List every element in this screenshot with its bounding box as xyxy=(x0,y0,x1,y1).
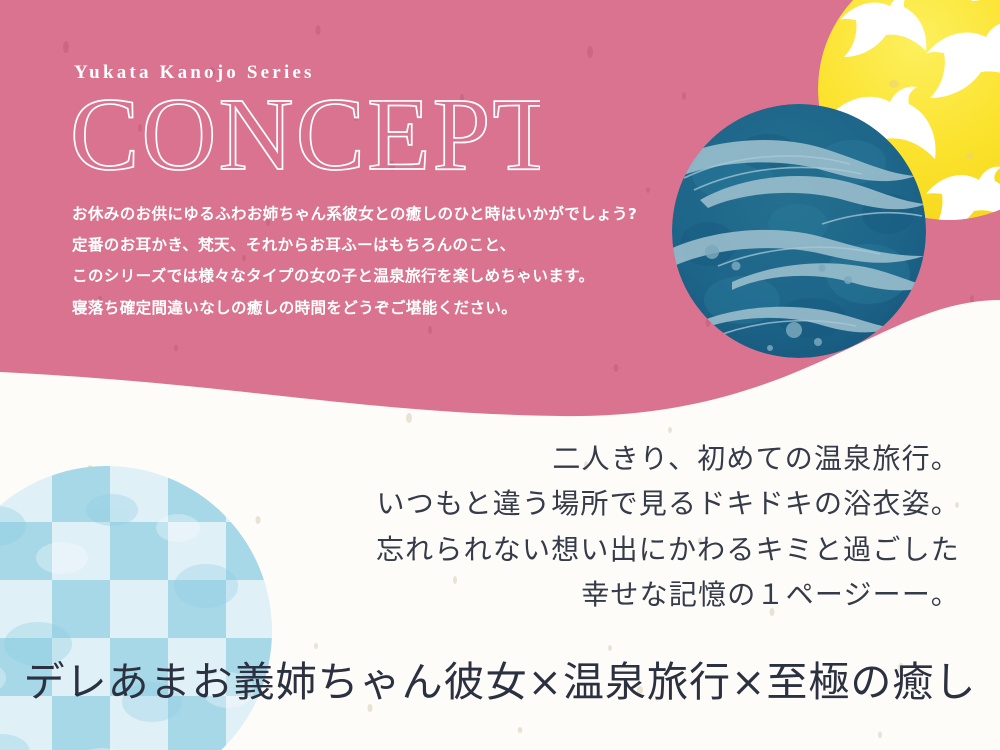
middle-copy-line-3: 忘れられない想い出にかわるキミと過ごした xyxy=(0,527,960,572)
poster-canvas: Yukata Kanojo Series CONCEPT お休みのお供にゆるふわ… xyxy=(0,0,1000,750)
lead-line-1: お休みのお供にゆるふわお姉ちゃん系彼女との癒しのひと時はいかがでしょう? xyxy=(72,199,730,230)
middle-copy-line-4: 幸せな記憶の１ページーー。 xyxy=(0,572,960,617)
header-text-block: Yukata Kanojo Series CONCEPT お休みのお供にゆるふわ… xyxy=(70,62,730,324)
lead-line-4: 寝落ち確定間違いなしの癒しの時間をどうぞご堪能ください。 xyxy=(72,293,730,324)
middle-copy-block: 二人きり、初めての温泉旅行。 いつもと違う場所で見るドキドキの浴衣姿。 忘れられ… xyxy=(0,436,960,617)
svg-text:CONCEPT: CONCEPT xyxy=(70,89,540,185)
page-title: CONCEPT xyxy=(70,89,730,185)
series-eyebrow: Yukata Kanojo Series xyxy=(74,62,730,85)
lead-line-3: このシリーズでは様々なタイプの女の子と温泉旅行を楽しめちゃいます。 xyxy=(72,261,730,292)
middle-copy-line-2: いつもと違う場所で見るドキドキの浴衣姿。 xyxy=(0,481,960,526)
lead-paragraph: お休みのお供にゆるふわお姉ちゃん系彼女との癒しのひと時はいかがでしょう? 定番の… xyxy=(72,199,730,324)
footer-tagline: デレあまお義姉ちゃん彼女×温泉旅行×至極の癒し xyxy=(0,660,1000,705)
lead-line-2: 定番のお耳かき、梵天、それからお耳ふーはもちろんのこと、 xyxy=(72,230,730,261)
middle-copy-line-1: 二人きり、初めての温泉旅行。 xyxy=(0,436,960,481)
